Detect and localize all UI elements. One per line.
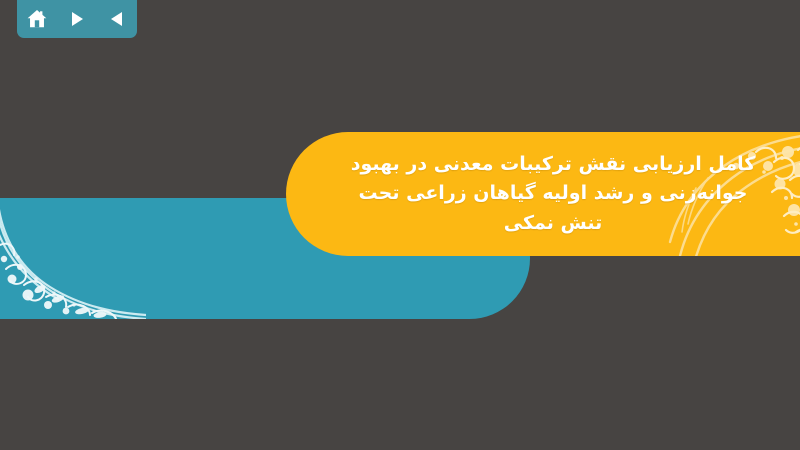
home-icon	[26, 8, 48, 30]
home-button[interactable]	[22, 4, 52, 34]
navigation-bar	[17, 0, 137, 38]
forward-button[interactable]	[62, 4, 92, 34]
arabesque-corner-ornament-right	[648, 132, 800, 256]
title-banner	[286, 132, 800, 256]
forward-icon	[67, 9, 87, 29]
back-icon	[107, 9, 127, 29]
arabesque-corner-ornament-left	[0, 201, 146, 319]
back-button[interactable]	[102, 4, 132, 34]
presentation-slide: کامل ارزیابی نقش ترکیبات معدنی در بهبود …	[0, 0, 800, 450]
